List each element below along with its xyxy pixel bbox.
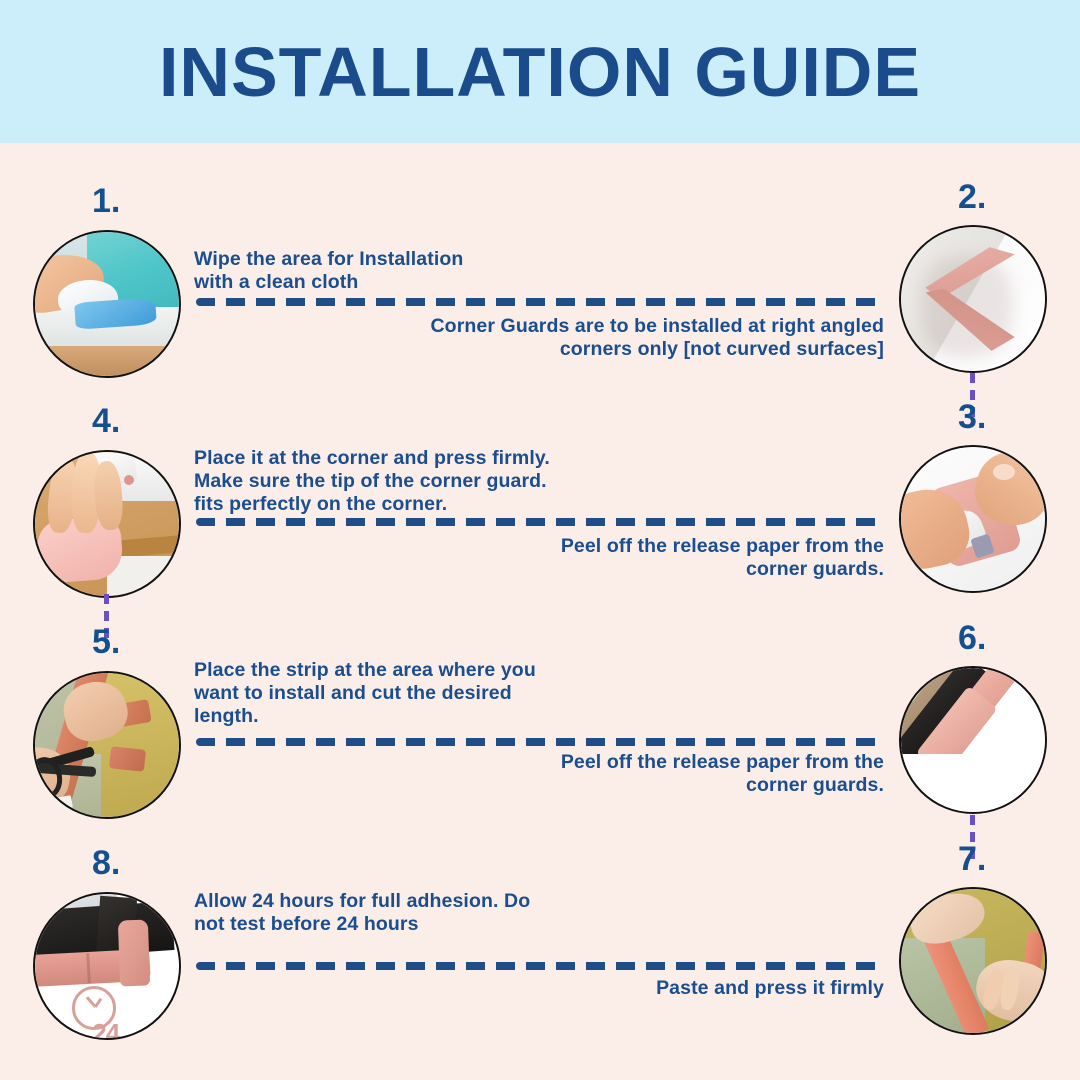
step-number-7: 7. [958, 842, 986, 876]
step-5-text: Place the strip at the area where you wa… [194, 659, 536, 727]
step-divider-2 [196, 518, 886, 526]
step-6-photo [899, 666, 1047, 814]
wiping-surface-with-cloth-icon [35, 232, 179, 376]
clock-hours-label: 24 [92, 1018, 119, 1038]
peeling-release-paper-icon [901, 447, 1045, 591]
pink-corner-guard-icon [901, 227, 1045, 371]
step-4-text-line-2: Make sure the tip of the corner guard. [194, 470, 550, 493]
step-6-text-line-2: corner guards. [561, 774, 884, 797]
step-divider-1 [196, 298, 886, 306]
step-6-text: Peel off the release paper from the corn… [561, 751, 884, 797]
step-number-2: 2. [958, 180, 986, 214]
step-4-text: Place it at the corner and press firmly.… [194, 447, 550, 515]
pressing-guard-on-table-corner-icon [35, 452, 179, 596]
step-row-3: 5. Place the strip at the area where you… [0, 611, 1080, 830]
step-7-text-line-1: Paste and press it firmly [656, 977, 884, 1000]
step-number-4: 4. [92, 404, 120, 438]
step-1-text-line-1: Wipe the area for Installation [194, 248, 463, 271]
step-5-text-line-1: Place the strip at the area where you [194, 659, 536, 682]
header-band: INSTALLATION GUIDE [0, 0, 1080, 143]
step-4-text-line-1: Place it at the corner and press firmly. [194, 447, 550, 470]
step-row-4: 8. 24 Allow 24 hours for full adhesio [0, 832, 1080, 1051]
step-number-3: 3. [958, 400, 986, 434]
step-number-8: 8. [92, 846, 120, 880]
step-2-text-line-1: Corner Guards are to be installed at rig… [431, 315, 885, 338]
step-8-text: Allow 24 hours for full adhesion. Do not… [194, 890, 530, 936]
step-2-text: Corner Guards are to be installed at rig… [431, 315, 885, 361]
step-6-text-line-1: Peel off the release paper from the [561, 751, 884, 774]
cutting-strip-with-scissors-icon [35, 673, 179, 817]
step-3-text-line-1: Peel off the release paper from the [561, 535, 884, 558]
step-4-text-line-3: fits perfectly on the corner. [194, 493, 550, 516]
installation-guide-page: INSTALLATION GUIDE 1. Wipe the area for … [0, 0, 1080, 1080]
step-5-text-line-2: want to install and cut the desired [194, 682, 536, 705]
step-3-text: Peel off the release paper from the corn… [561, 535, 884, 581]
installed-guard-with-clock-icon: 24 [35, 894, 179, 1038]
step-3-text-line-2: corner guards. [561, 558, 884, 581]
step-2-photo [899, 225, 1047, 373]
step-number-5: 5. [92, 625, 120, 659]
step-4-photo [33, 450, 181, 598]
step-8-photo: 24 [33, 892, 181, 1040]
pasting-strip-on-wall-edge-icon [901, 889, 1045, 1033]
page-title: INSTALLATION GUIDE [159, 37, 921, 107]
step-row-1: 1. Wipe the area for Installation with a… [0, 170, 1080, 389]
step-7-text: Paste and press it firmly [656, 977, 884, 1000]
step-number-1: 1. [92, 184, 120, 218]
step-7-photo [899, 887, 1047, 1035]
step-8-text-line-2: not test before 24 hours [194, 913, 530, 936]
step-2-text-line-2: corners only [not curved surfaces] [431, 338, 885, 361]
step-5-photo [33, 671, 181, 819]
step-row-2: 4. Place it at the corner and press firm… [0, 390, 1080, 609]
step-number-6: 6. [958, 621, 986, 655]
step-1-photo [33, 230, 181, 378]
step-1-text-line-2: with a clean cloth [194, 271, 463, 294]
step-3-photo [899, 445, 1047, 593]
step-divider-4 [196, 962, 886, 970]
step-1-text: Wipe the area for Installation with a cl… [194, 248, 463, 294]
step-5-text-line-3: length. [194, 705, 536, 728]
step-8-text-line-1: Allow 24 hours for full adhesion. Do [194, 890, 530, 913]
peeling-black-release-paper-icon [901, 668, 1045, 812]
step-divider-3 [196, 738, 886, 746]
